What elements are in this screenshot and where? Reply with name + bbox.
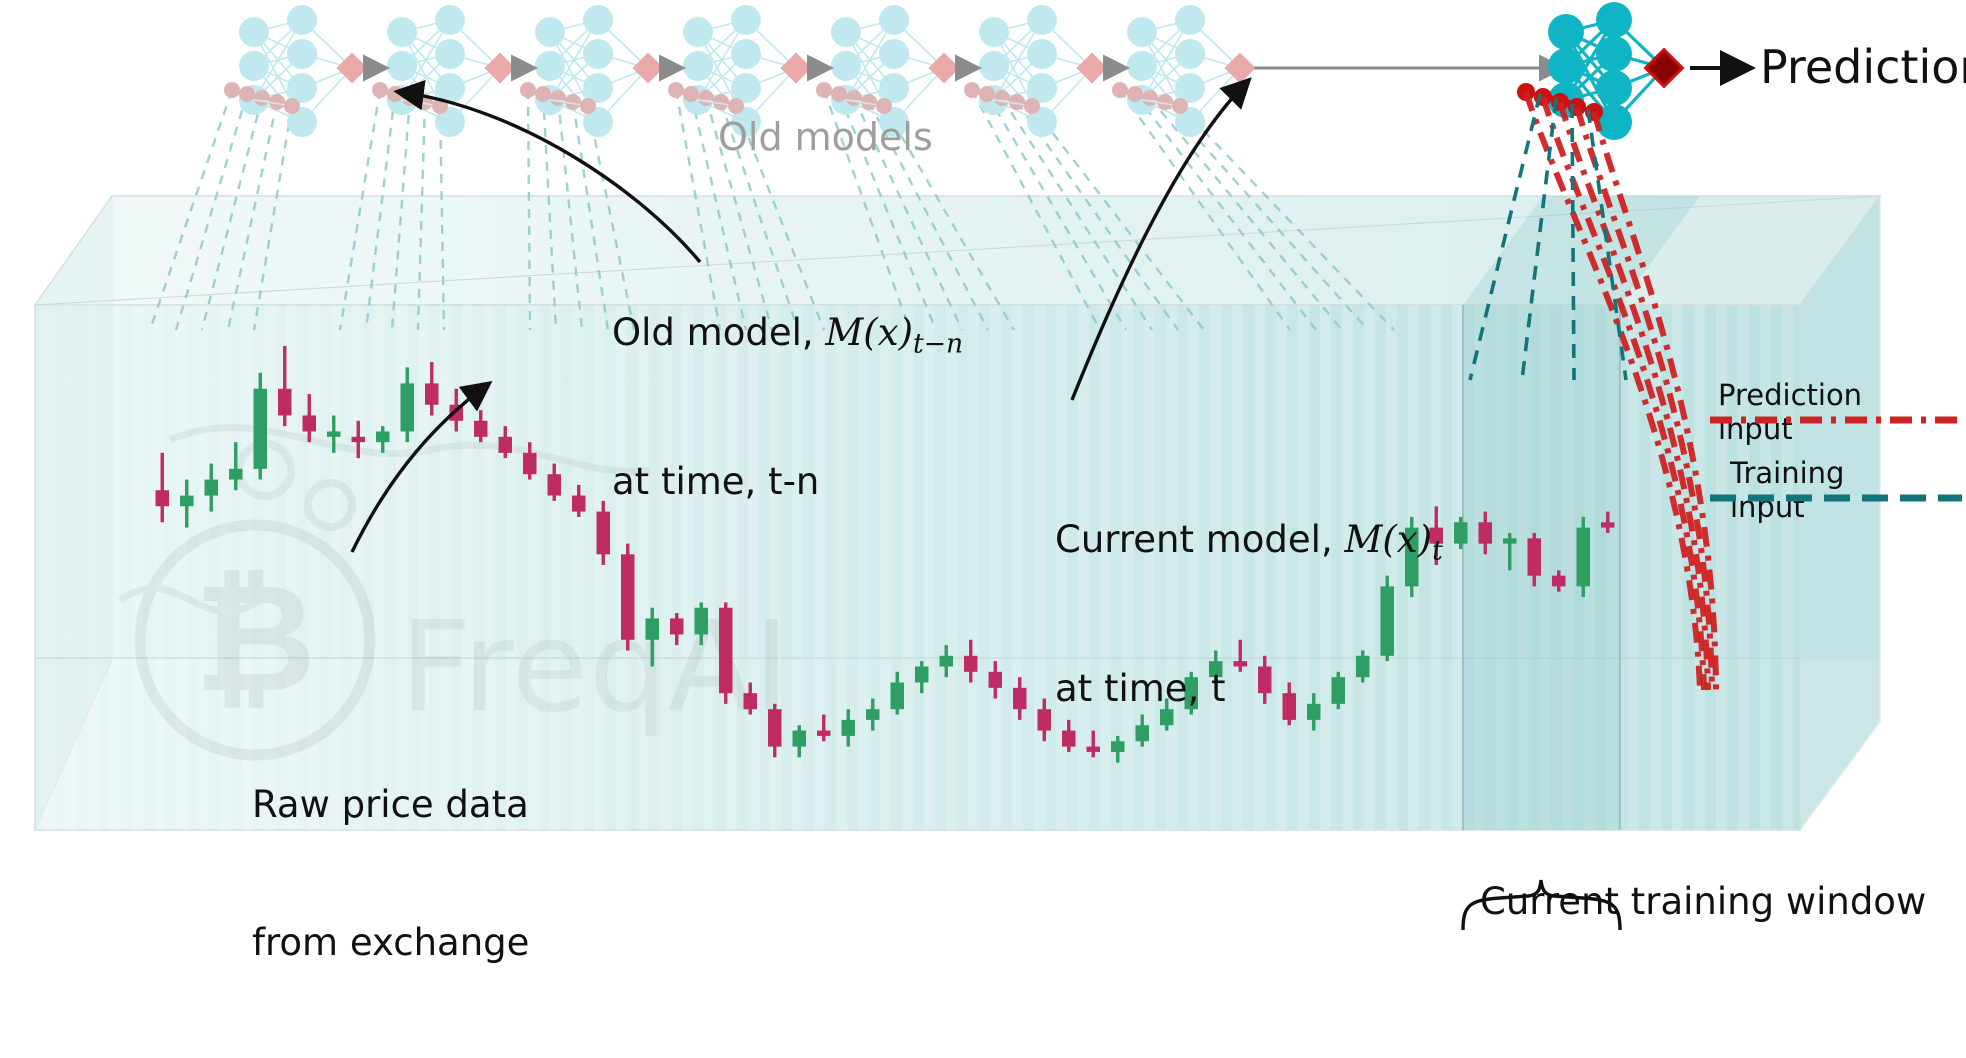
prediction-label: Prediction — [1760, 40, 1966, 94]
current-model-annotation: Current model, M(x)t at time, t — [1055, 425, 1443, 804]
old-model-annotation: Old model, M(x)t−n at time, t-n — [612, 218, 963, 597]
raw-price-annotation: Raw price data from exchange — [252, 690, 529, 1058]
current-model-annotation-line2: at time, t — [1055, 666, 1443, 712]
old-models-label: Old models — [718, 115, 933, 159]
raw-price-annotation-line1: Raw price data — [252, 782, 529, 828]
current-model-annotation-line1: Current model, M(x)t — [1055, 517, 1443, 574]
raw-price-annotation-line2: from exchange — [252, 920, 529, 966]
diagram-canvas: ₿ FreqAI — [0, 0, 1966, 981]
old-model-annotation-line2: at time, t-n — [612, 459, 963, 505]
legend-swatch-training-input — [1710, 490, 1966, 506]
old-model-annotation-line1: Old model, M(x)t−n — [612, 310, 963, 367]
training-window-label: Current training window — [1480, 880, 1926, 923]
legend-swatch-prediction-input — [1710, 412, 1966, 428]
